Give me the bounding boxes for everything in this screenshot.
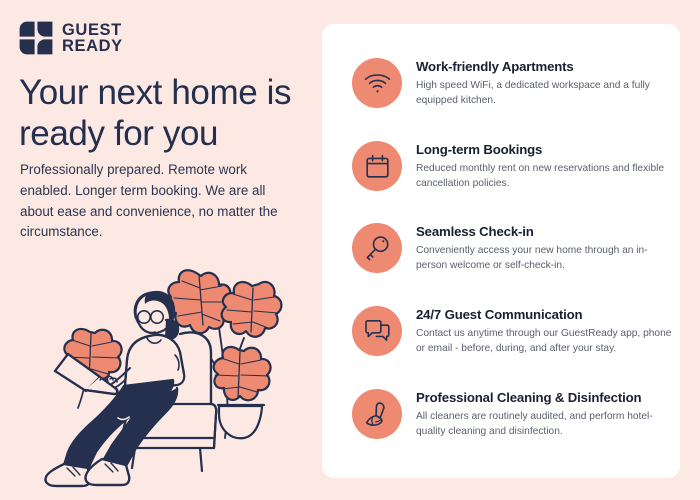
feature-description: Contact us anytime through our GuestRead… <box>416 326 674 356</box>
feature-item-long-term-bookings[interactable]: Long-term Bookings Reduced monthly rent … <box>352 141 674 191</box>
key-icon <box>352 223 402 273</box>
brand-name-line-1: GUEST <box>62 22 123 39</box>
hero-column: GUEST READY Your next home is ready for … <box>0 0 322 500</box>
brand-wordmark: GUEST READY <box>62 22 123 55</box>
brand-name-line-2: READY <box>62 38 123 55</box>
feature-title: Seamless Check-in <box>416 224 674 240</box>
feature-title: Long-term Bookings <box>416 142 674 158</box>
feature-text: Seamless Check-in Conveniently access yo… <box>416 223 674 273</box>
feature-title: 24/7 Guest Communication <box>416 307 674 323</box>
feature-item-work-friendly-apartments[interactable]: Work-friendly Apartments High speed WiFi… <box>352 58 674 108</box>
wifi-icon <box>352 58 402 108</box>
feature-title: Work-friendly Apartments <box>416 59 674 75</box>
feature-description: High speed WiFi, a dedicated workspace a… <box>416 78 674 108</box>
feature-text: 24/7 Guest Communication Contact us anyt… <box>416 306 674 356</box>
calendar-icon <box>352 141 402 191</box>
features-card: Work-friendly Apartments High speed WiFi… <box>322 24 680 478</box>
feature-item-cleaning-disinfection[interactable]: Professional Cleaning & Disinfection All… <box>352 389 674 439</box>
feature-item-seamless-check-in[interactable]: Seamless Check-in Conveniently access yo… <box>352 223 674 273</box>
marketing-page: GUEST READY Your next home is ready for … <box>0 0 700 500</box>
feature-text: Work-friendly Apartments High speed WiFi… <box>416 58 674 108</box>
brand-logo[interactable]: GUEST READY <box>19 21 123 55</box>
feature-title: Professional Cleaning & Disinfection <box>416 390 674 406</box>
feature-description: All cleaners are routinely audited, and … <box>416 409 674 439</box>
woman-with-laptop-illustration <box>22 228 312 496</box>
feature-text: Long-term Bookings Reduced monthly rent … <box>416 141 674 191</box>
chat-bubbles-icon <box>352 306 402 356</box>
guestready-quadrant-logo-icon <box>19 21 53 55</box>
feature-text: Professional Cleaning & Disinfection All… <box>416 389 674 439</box>
feature-description: Conveniently access your new home throug… <box>416 243 674 273</box>
feature-description: Reduced monthly rent on new reservations… <box>416 161 674 191</box>
broom-icon <box>352 389 402 439</box>
page-title: Your next home is ready for you <box>19 72 309 155</box>
feature-item-guest-communication[interactable]: 24/7 Guest Communication Contact us anyt… <box>352 306 674 356</box>
